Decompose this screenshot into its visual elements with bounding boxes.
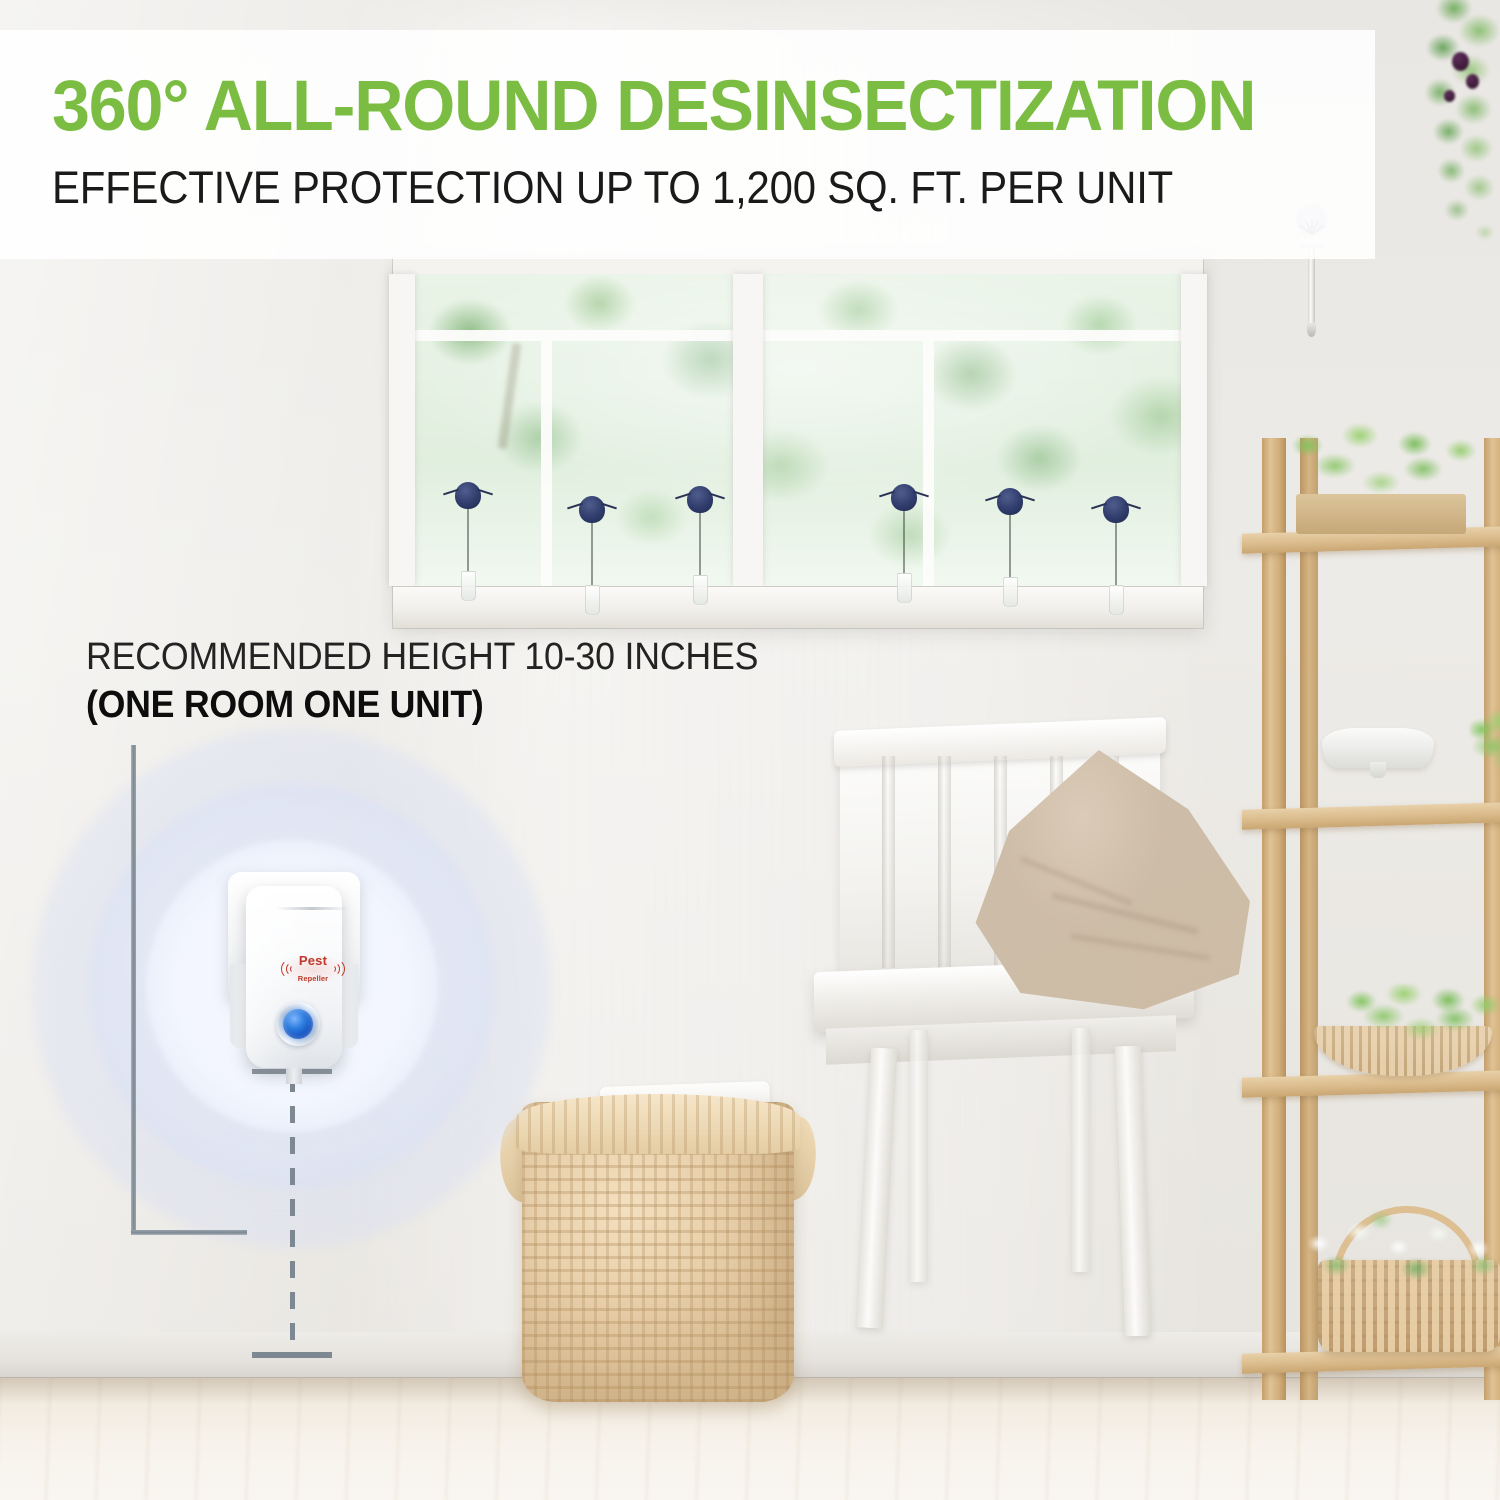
- sill-flower: [687, 486, 713, 605]
- window-mullion: [733, 274, 763, 586]
- window-sill: [393, 586, 1203, 628]
- product-infographic: Pest Repeller 360° ALL-ROUND DESINSECTIZ…: [0, 0, 1500, 1500]
- shelf-basket-blooms: [1292, 1210, 1500, 1294]
- drop-line-tick-floor: [252, 1352, 332, 1358]
- device-plug-prong: [286, 1068, 302, 1084]
- shelf-plant-herbs: [1276, 422, 1486, 506]
- device-power-button[interactable]: [276, 1002, 320, 1046]
- callout-one-room-one-unit: (ONE ROOM ONE UNIT): [86, 684, 483, 727]
- sound-wave-icon-left: [280, 956, 296, 982]
- window-glare: [413, 274, 1183, 586]
- sill-flower: [579, 496, 605, 615]
- sill-flower: [455, 482, 481, 601]
- led-indicator: [283, 1009, 313, 1039]
- hanging-plant-icon: [1370, 0, 1500, 266]
- chair-leg-front-right: [1115, 1046, 1151, 1337]
- shelf-tray-greens: [1336, 984, 1500, 1046]
- page-title: 360° ALL-ROUND DESINSECTIZATION: [52, 66, 1255, 147]
- logo-primary-text: Pest: [299, 953, 327, 968]
- chair-leg-back-right: [1072, 1028, 1090, 1272]
- window-glass: [413, 274, 1183, 586]
- sound-wave-icon-right: [330, 956, 346, 982]
- sill-flower: [891, 484, 917, 603]
- sill-flower: [1103, 496, 1129, 615]
- wooden-shelf-unit: [1256, 438, 1500, 1400]
- height-bracket-vertical: [131, 745, 136, 1235]
- window-jamb-left: [389, 274, 415, 586]
- sill-flower: [997, 488, 1023, 607]
- callout-recommended-height: RECOMMENDED HEIGHT 10-30 INCHES: [86, 636, 758, 679]
- pest-repeller-logo: Pest Repeller: [276, 950, 350, 988]
- height-drop-line: [290, 1075, 295, 1357]
- device-seam: [276, 907, 348, 910]
- height-bracket-horizontal: [131, 1230, 247, 1235]
- chair-leg-back-left: [910, 1030, 928, 1282]
- window: [393, 258, 1203, 628]
- shelf-plant-small: [1470, 710, 1500, 780]
- pest-repeller-device[interactable]: Pest Repeller: [228, 868, 360, 1078]
- logo-secondary-text: Repeller: [298, 974, 328, 983]
- page-subtitle: EFFECTIVE PROTECTION UP TO 1,200 SQ. FT.…: [52, 162, 1173, 214]
- device-front-face: Pest Repeller: [246, 886, 342, 1068]
- shelf-white-bowl: [1322, 728, 1434, 768]
- window-jamb-right: [1181, 274, 1207, 586]
- wooden-chair: [820, 730, 1240, 1430]
- chair-leg-front-left: [857, 1048, 898, 1329]
